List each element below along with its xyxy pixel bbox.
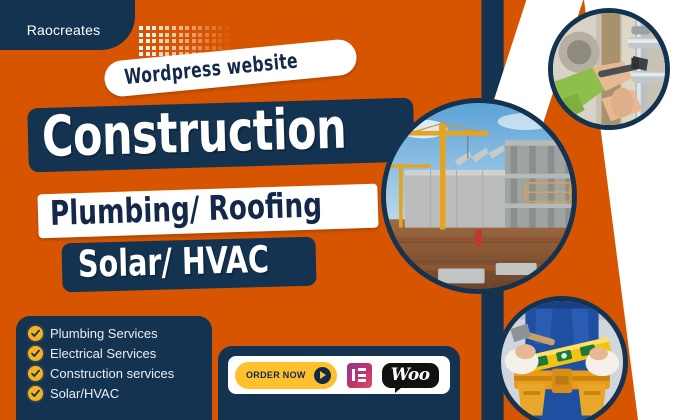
dot [172,39,176,43]
feature-label: Solar/HVAC [50,386,119,401]
dot [198,39,202,43]
elementor-logo [347,363,372,388]
dot [159,33,163,37]
dot [146,33,150,37]
plumbing-repair-photo [548,8,670,130]
promo-banner: Raocreates Wordpress website Constructio… [0,0,680,420]
dot [152,26,156,30]
dot [152,52,156,56]
construction-site-photo [381,98,577,294]
dot [185,46,189,50]
feature-label: Plumbing Services [50,326,158,341]
feature-label: Electrical Services [50,346,156,361]
dot [212,33,216,37]
dot [179,39,183,43]
feature-item: Plumbing Services [28,326,202,341]
check-circle-icon [28,386,43,401]
elementor-lines [358,368,366,382]
dot [172,26,176,30]
dot [165,33,169,37]
dot [146,46,150,50]
check-circle-icon [28,366,43,381]
dot [152,33,156,37]
dot [179,26,183,30]
headline-line-construction: Construction [27,98,415,173]
dot [212,46,216,50]
dot [185,39,189,43]
dot [139,33,143,37]
dot [152,46,156,50]
dot [172,33,176,37]
check-circle-icon [28,326,43,341]
woocommerce-label: Woo [391,365,430,385]
cta-inner: ORDER NOW Woo [228,356,450,394]
dot [198,26,202,30]
dot [179,46,183,50]
dot [146,26,150,30]
dot [205,33,209,37]
headline-construction-text: Construction [41,102,347,166]
dot [205,46,209,50]
cta-bar: ORDER NOW Woo [218,346,460,420]
dot [198,33,202,37]
dot [218,33,222,37]
dot [165,46,169,50]
dot [212,26,216,30]
headline-plumbing-text: Plumbing/ Roofing [49,188,322,232]
woocommerce-logo: Woo [382,363,439,388]
feature-label: Construction services [50,366,174,381]
brand-badge: Raocreates [0,0,135,50]
dot [165,26,169,30]
dot [139,52,143,56]
elementor-bar [352,369,355,381]
dot [185,33,189,37]
dot [139,39,143,43]
dot [205,26,209,30]
dot [192,46,196,50]
dot [179,33,183,37]
dot [185,26,189,30]
dot [198,46,202,50]
check-circle-icon [28,346,43,361]
dot [225,39,229,43]
features-panel: Plumbing ServicesElectrical ServicesCons… [16,316,212,420]
headline-solar-text: Solar/ HVAC [77,241,269,285]
dot [192,39,196,43]
dot [146,52,150,56]
dot [159,39,163,43]
dot [205,39,209,43]
dot [218,39,222,43]
order-now-button[interactable]: ORDER NOW [235,362,337,389]
order-now-label: ORDER NOW [246,370,306,380]
feature-item: Electrical Services [28,346,202,361]
dot [212,39,216,43]
dot [139,26,143,30]
feature-item: Construction services [28,366,202,381]
play-icon [314,367,331,384]
dot [159,46,163,50]
dot [192,26,196,30]
dot [218,26,222,30]
tool-belt-photo [496,296,628,420]
feature-item: Solar/HVAC [28,386,202,401]
dot [225,26,229,30]
dot [172,46,176,50]
dot [159,26,163,30]
dot [218,46,222,50]
dot [152,39,156,43]
headline-line-solar-hvac: Solar/ HVAC [61,237,316,292]
brand-name: Raocreates [5,22,101,38]
dot [139,46,143,50]
dot [146,39,150,43]
dot [165,39,169,43]
dot [225,33,229,37]
dot [192,33,196,37]
